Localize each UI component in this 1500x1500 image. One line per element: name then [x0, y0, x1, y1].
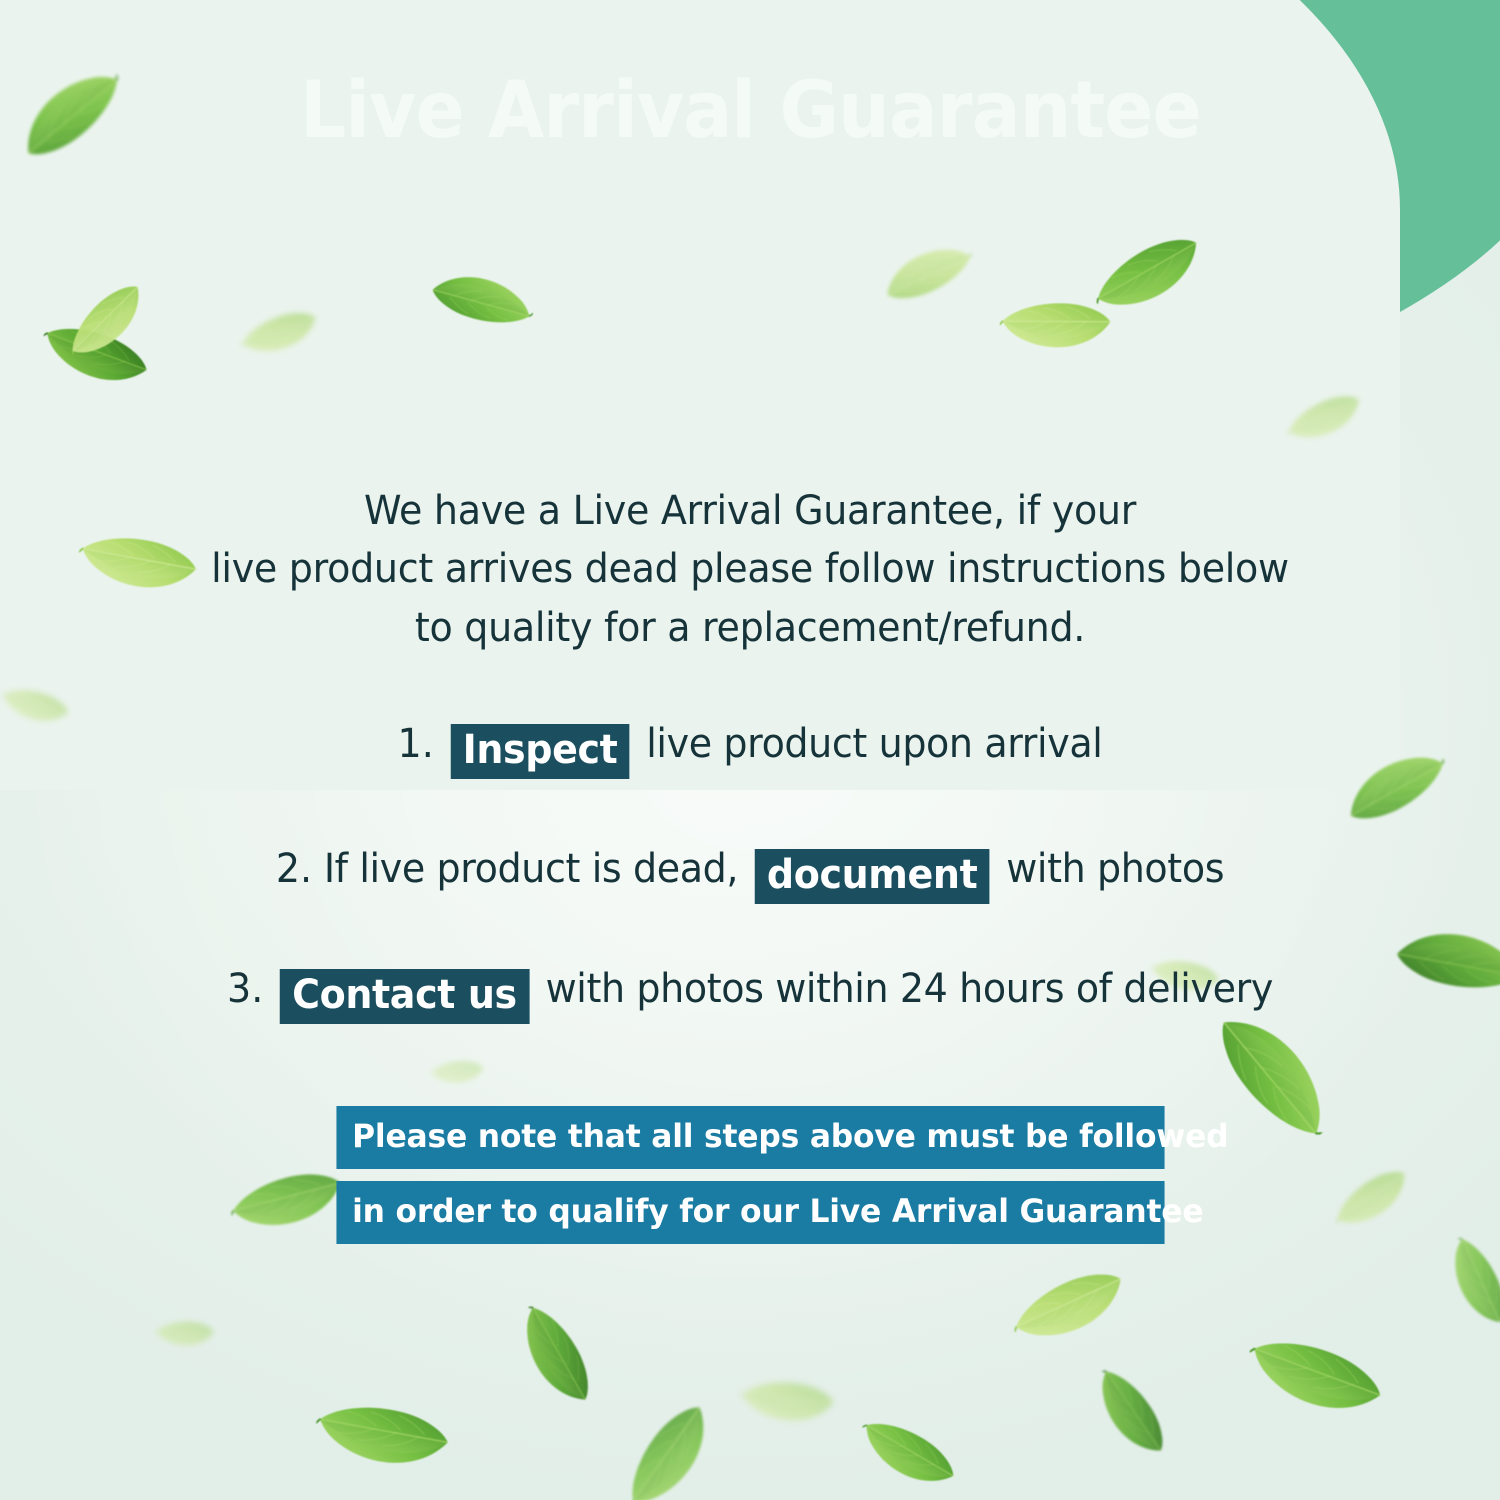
step-number-2: 2. — [276, 846, 312, 892]
step-highlight-inspect: Inspect — [450, 724, 630, 779]
intro-line-3: to quality for a replacement/refund. — [180, 599, 1320, 657]
step-highlight-document: document — [755, 849, 990, 904]
note-bar-line-2: in order to qualify for our Live Arrival… — [336, 1181, 1164, 1244]
step-text-1: live product upon arrival — [646, 721, 1102, 767]
step-highlight-contact-us: Contact us — [280, 969, 529, 1024]
live-arrival-guarantee-poster: Live Arrival Guarantee We have a Live Ar… — [0, 0, 1500, 1500]
step-number-3: 3. — [227, 966, 263, 1012]
note-bar-line-1: Please note that all steps above must be… — [336, 1106, 1164, 1169]
step-item-2: 2. If live product is dead, document wit… — [38, 843, 1463, 898]
step-text-2-before: If live product is dead, — [324, 846, 738, 892]
step-item-1: 1. Inspect live product upon arrival — [38, 718, 1463, 773]
content-area: We have a Live Arrival Guarantee, if you… — [0, 0, 1500, 1500]
step-text-3: with photos within 24 hours of delivery — [546, 966, 1273, 1012]
step-item-3: 3. Contact us with photos within 24 hour… — [38, 963, 1463, 1018]
intro-paragraph: We have a Live Arrival Guarantee, if you… — [180, 482, 1320, 657]
intro-line-2: live product arrives dead please follow … — [180, 540, 1320, 598]
step-number-1: 1. — [398, 721, 434, 767]
note-banner-group: Please note that all steps above must be… — [0, 1106, 1500, 1256]
step-text-2-after: with photos — [1006, 846, 1224, 892]
intro-line-1: We have a Live Arrival Guarantee, if you… — [180, 482, 1320, 540]
